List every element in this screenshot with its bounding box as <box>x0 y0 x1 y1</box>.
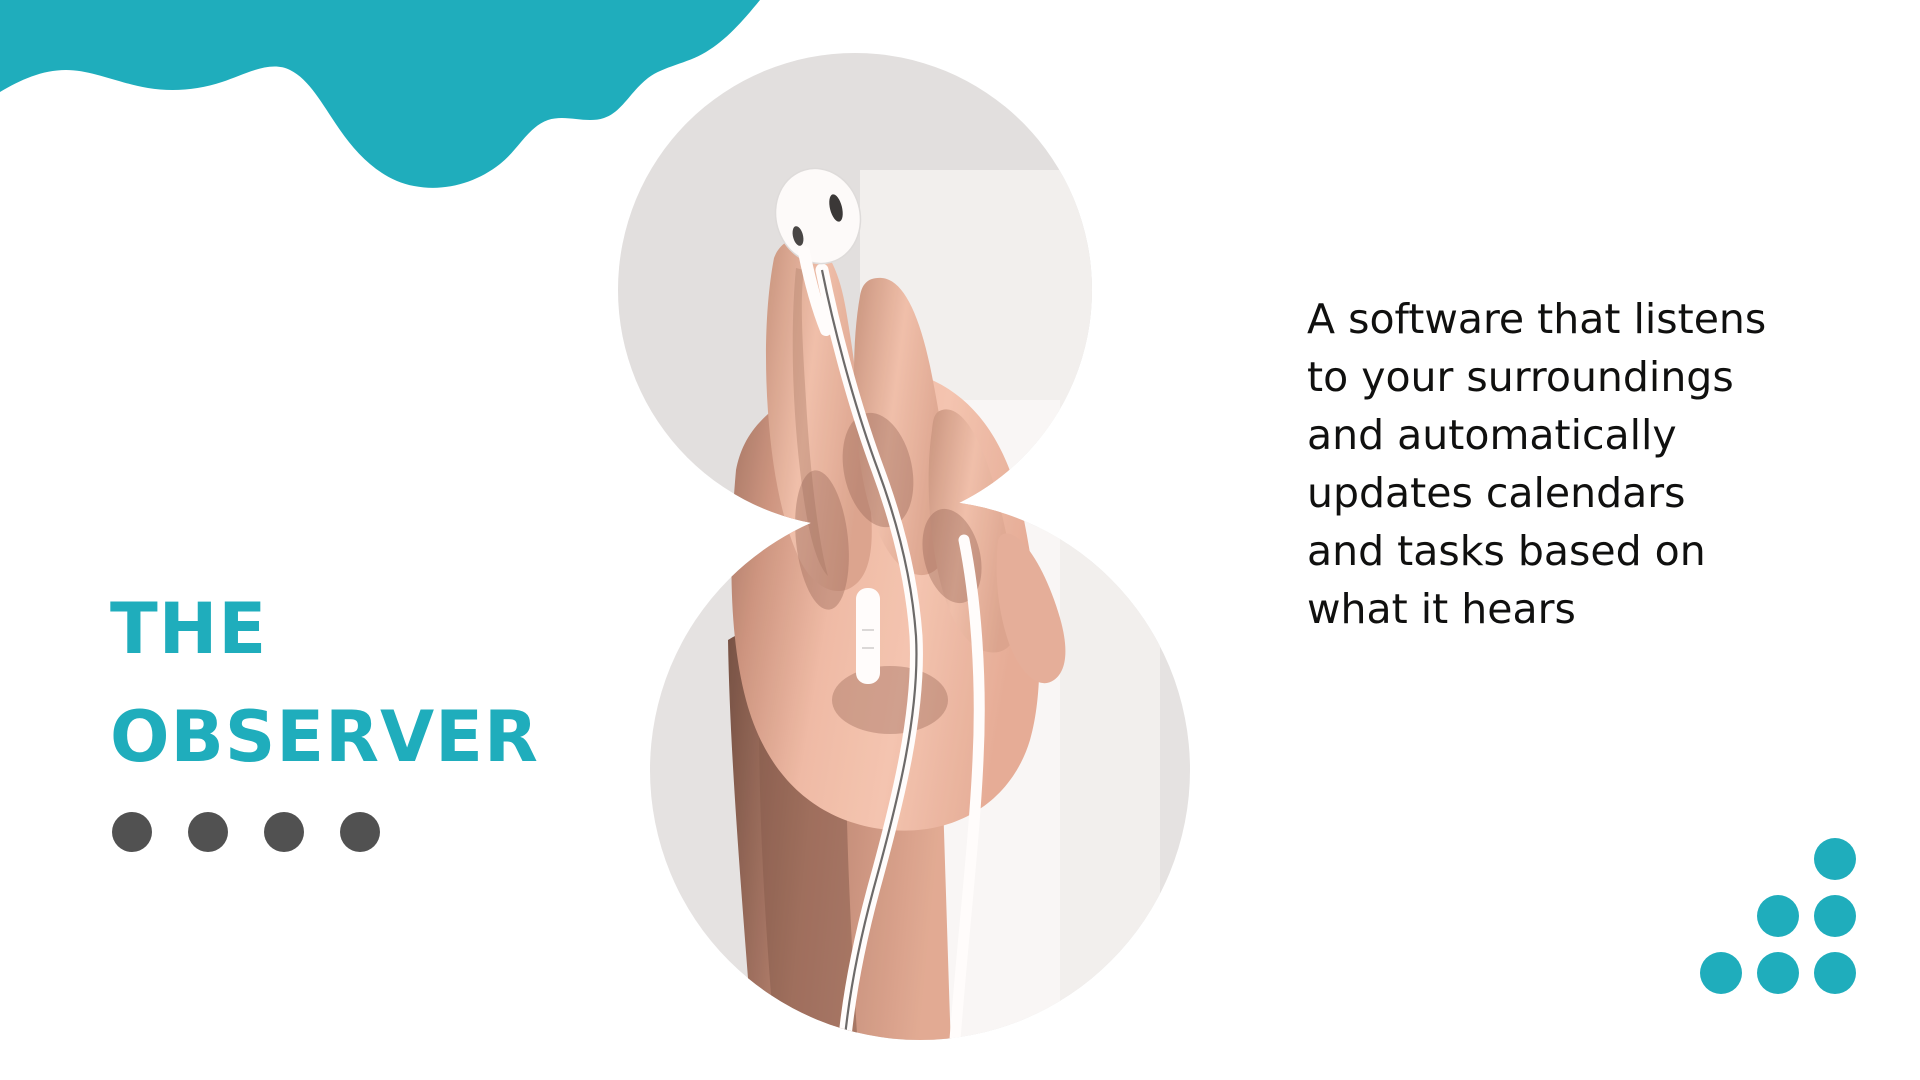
photo-content <box>560 0 1280 1080</box>
accent-dot-r0c2 <box>1814 838 1856 880</box>
title-dot-row <box>112 812 380 852</box>
title-dot-4 <box>340 812 380 852</box>
title-dot-2 <box>188 812 228 852</box>
hero-photo <box>560 0 1280 1080</box>
accent-dot-grid <box>1700 838 1870 993</box>
accent-dot-r1c2 <box>1814 895 1856 937</box>
title-dot-3 <box>264 812 304 852</box>
title-line-2: OBSERVER <box>110 683 540 791</box>
accent-dot-r1c1 <box>1757 895 1799 937</box>
accent-dot-r2c0 <box>1700 952 1742 994</box>
title-line-1: THE <box>110 575 540 683</box>
title-dot-1 <box>112 812 152 852</box>
accent-dot-r2c2 <box>1814 952 1856 994</box>
page-title: THE OBSERVER <box>110 575 540 791</box>
slide-canvas: THE OBSERVER A software that listens to … <box>0 0 1920 1080</box>
body-paragraph: A software that listens to your surround… <box>1307 290 1767 638</box>
accent-dot-r2c1 <box>1757 952 1799 994</box>
